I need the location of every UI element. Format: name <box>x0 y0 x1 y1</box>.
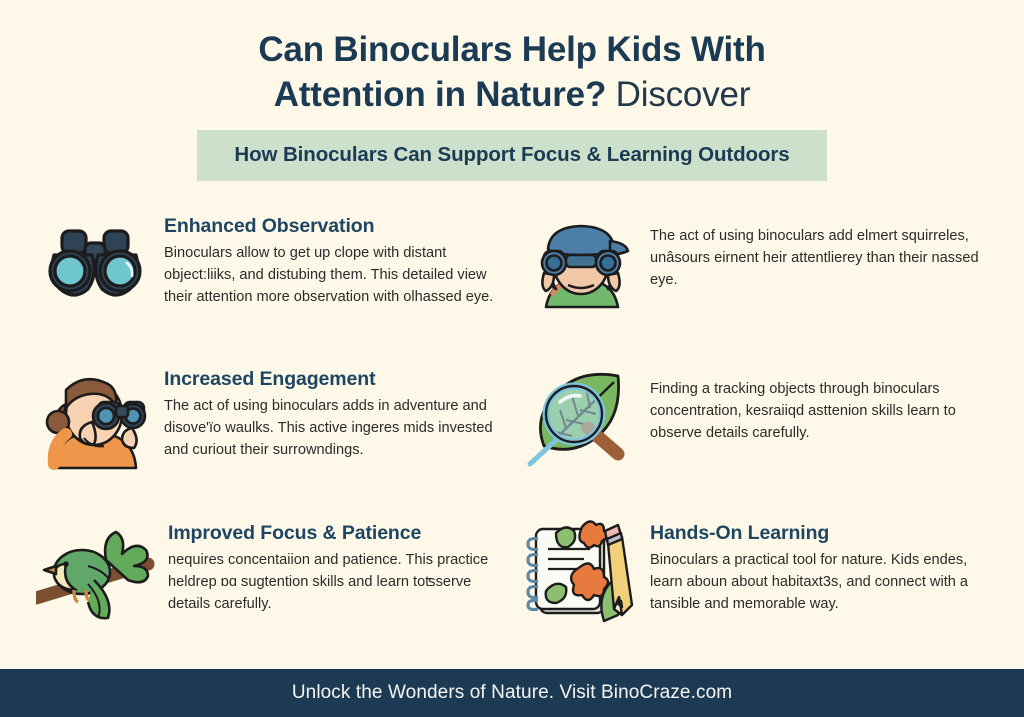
benefit-text: Improved Focus & Patience nequires conce… <box>168 514 502 616</box>
leaf-magnifier-icon <box>522 364 640 472</box>
benefit-item-increased-engagement: Increased Engagement The act of using bi… <box>26 356 512 509</box>
benefits-grid: Enhanced Observation Binoculars allow to… <box>0 181 1024 669</box>
benefit-text: Increased Engagement The act of using bi… <box>164 360 502 462</box>
subtitle-banner-wrap: How Binoculars Can Support Focus & Learn… <box>100 130 924 181</box>
footer-text: Unlock the Wonders of Nature. Visit Bino… <box>292 682 732 704</box>
benefit-title: Improved Focus & Patience <box>168 522 502 545</box>
benefit-body: Finding a tracking objects through binoc… <box>650 378 988 445</box>
benefit-text: Enhanced Observation Binoculars allow to… <box>164 207 502 309</box>
benefit-item-kid-observer: The act of using binoculars add elmert s… <box>512 203 998 356</box>
header: Can Binoculars Help Kids With Attention … <box>0 0 1024 181</box>
nature-notebook-icon <box>522 518 640 626</box>
subtitle-banner: How Binoculars Can Support Focus & Learn… <box>197 130 827 181</box>
benefit-item-leaf-magnifier: Finding a tracking objects through binoc… <box>512 356 998 509</box>
title-line-2-bold: Attention in Nature? <box>274 75 606 114</box>
title-line-1: Can Binoculars Help Kids With <box>258 30 765 69</box>
benefit-body: nequires concentaiion and patience. This… <box>168 549 502 616</box>
benefit-title: Enhanced Observation <box>164 215 502 238</box>
benefit-title: Hands-On Learning <box>650 522 988 545</box>
footer-banner: Unlock the Wonders of Nature. Visit Bino… <box>0 669 1024 717</box>
binoculars-icon <box>36 211 154 319</box>
benefit-body: The act of using binoculars adds in adve… <box>164 395 502 462</box>
benefit-item-hands-on-learning: Hands-On Learning Binoculars a practical… <box>512 510 998 663</box>
bird-on-branch-icon <box>36 518 158 626</box>
benefit-item-enhanced-observation: Enhanced Observation Binoculars allow to… <box>26 203 512 356</box>
infographic-poster: Can Binoculars Help Kids With Attention … <box>0 0 1024 717</box>
child-with-binoculars-icon <box>36 364 154 472</box>
page-title: Can Binoculars Help Kids With Attention … <box>100 28 924 118</box>
benefit-title: Increased Engagement <box>164 368 502 391</box>
benefit-body: The act of using binoculars add elmert s… <box>650 225 988 292</box>
kid-with-binoculars-cap-icon <box>522 211 640 319</box>
title-line-2-light: Discover <box>616 75 751 114</box>
benefit-text: The act of using binoculars add elmert s… <box>650 207 988 292</box>
benefit-text: Finding a tracking objects through binoc… <box>650 360 988 445</box>
benefit-body: Binoculars a practical tool for nature. … <box>650 549 988 616</box>
benefit-item-improved-focus: Improved Focus & Patience nequires conce… <box>26 510 512 663</box>
benefit-body: Binoculars allow to get up clope with di… <box>164 242 502 309</box>
benefit-text: Hands-On Learning Binoculars a practical… <box>650 514 988 616</box>
